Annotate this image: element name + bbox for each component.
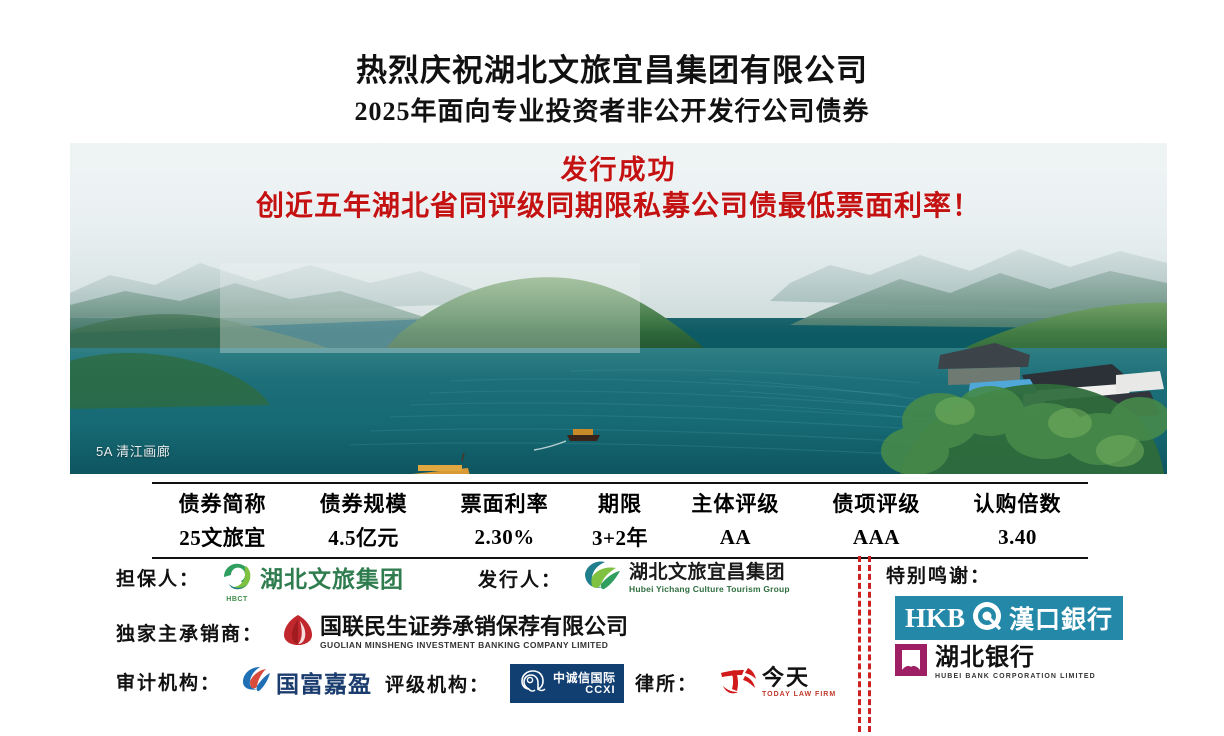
- hkb-emblem-icon: [972, 601, 1002, 636]
- guolian-name-cn: 国联民生证券承销保荐有限公司: [320, 615, 628, 638]
- table-header-cell: 期限: [575, 483, 665, 520]
- today-law-firm-logo: 今天 TODAY LAW FIRM: [718, 664, 836, 701]
- yichang-text-block: 湖北文旅宜昌集团 Hubei Yichang Culture Tourism G…: [629, 563, 790, 594]
- guolian-minsheng-logo: 国联民生证券承销保荐有限公司 GUOLIAN MINSHENG INVESTME…: [283, 614, 628, 651]
- yichang-name-cn: 湖北文旅宜昌集团: [629, 563, 790, 583]
- guolian-text-block: 国联民生证券承销保荐有限公司 GUOLIAN MINSHENG INVESTME…: [320, 615, 628, 649]
- header-title-line1: 热烈庆祝湖北文旅宜昌集团有限公司: [0, 52, 1224, 90]
- guofu-name: 国富嘉盈: [276, 665, 372, 699]
- table-value-cell: AAA: [806, 520, 947, 558]
- hbct-abbr: HBCT: [220, 596, 254, 603]
- hkb-name-cn: 漢口銀行: [1009, 600, 1113, 636]
- special-thanks-label: 特别鸣谢：: [886, 561, 991, 588]
- today-text-block: 今天 TODAY LAW FIRM: [762, 667, 836, 698]
- table-value-cell: 2.30%: [434, 520, 575, 558]
- table-header-row: 债券简称 债券规模 票面利率 期限 主体评级 债项评级 认购倍数: [152, 483, 1088, 520]
- table-header-cell: 票面利率: [434, 483, 575, 520]
- red-dashed-divider-left: [858, 556, 861, 732]
- poster-page: 热烈庆祝湖北文旅宜昌集团有限公司 2025年面向专业投资者非公开发行公司债券: [0, 0, 1224, 736]
- today-jt-icon: [718, 664, 758, 701]
- table-header-cell: 主体评级: [665, 483, 806, 520]
- yichang-name-en: Hubei Yichang Culture Tourism Group: [629, 585, 790, 594]
- table-value-cell: 3.40: [947, 520, 1088, 558]
- table-value-cell: AA: [665, 520, 806, 558]
- issuer-row: 发行人： 湖北文旅宜昌集团 Hubei Yichang Culture Tour…: [478, 560, 790, 597]
- rating-agency-row: 评级机构： 中诚信国际 CCXI: [385, 664, 624, 703]
- hubei-bank-text-block: 湖北银行 HUBEI BANK CORPORATION LIMITED: [935, 646, 1096, 680]
- guofu-jiaying-logo: 国富嘉盈: [241, 664, 372, 699]
- hbct-name: 湖北文旅集团: [260, 560, 404, 594]
- guarantor-row: 担保人： HBCT 湖北文旅集团: [116, 560, 404, 594]
- today-name-en: TODAY LAW FIRM: [762, 691, 836, 698]
- today-name-cn: 今天: [762, 667, 836, 689]
- photo-watermark: 5A 清江画廊: [96, 441, 170, 460]
- guolian-flame-icon: [283, 614, 313, 651]
- hubei-bank-logo: 湖北银行 HUBEI BANK CORPORATION LIMITED: [895, 644, 1096, 681]
- table-value-cell: 3+2年: [575, 520, 665, 558]
- auditor-row: 审计机构： 国富嘉盈: [116, 664, 372, 699]
- scenery-photo: [70, 143, 1167, 474]
- hubei-bank-square-icon: [895, 644, 927, 681]
- scenery-illustration: [70, 143, 1167, 474]
- hubei-bank-name-en: HUBEI BANK CORPORATION LIMITED: [935, 673, 1096, 680]
- issuer-label: 发行人：: [478, 565, 562, 592]
- guofu-swoosh-icon: [241, 664, 271, 699]
- bond-summary-table: 债券简称 债券规模 票面利率 期限 主体评级 债项评级 认购倍数 25文旅宜 4…: [152, 482, 1088, 559]
- law-firm-label: 律所：: [635, 669, 698, 696]
- table-value-cell: 25文旅宜: [152, 520, 293, 558]
- hubei-culture-tourism-group-logo: HBCT 湖北文旅集团: [220, 560, 404, 594]
- ccxi-name-cn: 中诚信国际: [553, 672, 616, 684]
- hkb-abbr: HKB: [905, 603, 965, 634]
- header-title-line2: 2025年面向专业投资者非公开发行公司债券: [0, 95, 1224, 129]
- red-dashed-divider-right: [868, 556, 871, 732]
- table-header-cell: 债券简称: [152, 483, 293, 520]
- auditor-label: 审计机构：: [116, 668, 221, 695]
- ccxi-logo: 中诚信国际 CCXI: [510, 664, 624, 703]
- ccxi-elephant-icon: [518, 669, 548, 698]
- poster-header: 热烈庆祝湖北文旅宜昌集团有限公司 2025年面向专业投资者非公开发行公司债券: [0, 52, 1224, 129]
- table-header-cell: 认购倍数: [947, 483, 1088, 520]
- table-value-cell: 4.5亿元: [293, 520, 434, 558]
- underwriter-label: 独家主承销商：: [116, 619, 263, 646]
- underwriter-row: 独家主承销商： 国联民生证券承销保荐有限公司 GUOLIAN MINSHENG …: [116, 614, 628, 651]
- guarantor-label: 担保人：: [116, 564, 200, 591]
- guolian-name-en: GUOLIAN MINSHENG INVESTMENT BANKING COMP…: [320, 641, 628, 650]
- table-header-cell: 债券规模: [293, 483, 434, 520]
- yichang-group-logo: 湖北文旅宜昌集团 Hubei Yichang Culture Tourism G…: [582, 560, 790, 597]
- law-firm-row: 律所： 今天 TODAY LAW FIRM: [635, 664, 836, 701]
- table-header-cell: 债项评级: [806, 483, 947, 520]
- ccxi-text-block: 中诚信国际 CCXI: [553, 672, 616, 696]
- hankou-bank-logo: HKB 漢口銀行: [895, 596, 1123, 640]
- yichang-leaf-icon: [582, 560, 622, 597]
- hbct-swirl-icon: HBCT: [220, 560, 254, 594]
- rating-agency-label: 评级机构：: [385, 670, 490, 697]
- table-value-row: 25文旅宜 4.5亿元 2.30% 3+2年 AA AAA 3.40: [152, 520, 1088, 558]
- hubei-bank-name-cn: 湖北银行: [935, 646, 1096, 670]
- ccxi-name-en: CCXI: [553, 685, 616, 696]
